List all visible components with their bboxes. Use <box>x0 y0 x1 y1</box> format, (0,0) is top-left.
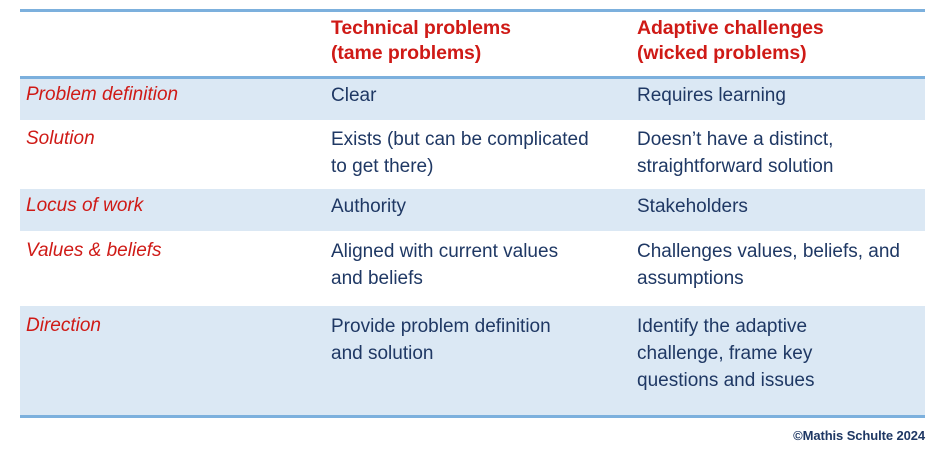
cell-technical-values-and-beliefs: Aligned with current values and beliefs <box>331 238 631 292</box>
cell-adaptive-direction: Identify the adaptive challenge, frame k… <box>637 313 927 394</box>
row-label-problem-definition: Problem definition <box>26 82 326 107</box>
cell-text: Requires learning <box>637 85 786 106</box>
row-label-direction: Direction <box>26 313 326 338</box>
header-label-technical-problems: Technical problems (tame problems) <box>331 17 511 64</box>
copyright-notice: ©Mathis Schulte 2024 <box>793 428 925 443</box>
cell-technical-locus-of-work: Authority <box>331 193 631 220</box>
row-label-solution: Solution <box>26 126 326 151</box>
row-label-locus-of-work: Locus of work <box>26 193 326 218</box>
cell-technical-direction: Provide problem definition and solution <box>331 313 631 367</box>
row-label-values-and-beliefs: Values & beliefs <box>26 238 326 263</box>
cell-adaptive-solution: Doesn’t have a distinct, straightforward… <box>637 126 927 180</box>
cell-text: Doesn’t have a distinct, straightforward… <box>637 129 833 177</box>
cell-adaptive-locus-of-work: Stakeholders <box>637 193 927 220</box>
cell-text: Authority <box>331 196 406 217</box>
header-cell-technical-problems: Technical problems (tame problems) <box>331 16 631 66</box>
cell-technical-problem-definition: Clear <box>331 82 631 109</box>
row-label-text: Values & beliefs <box>26 240 162 261</box>
cell-text: Provide problem definition and solution <box>331 316 551 364</box>
table-header-row: Technical problems (tame problems) Adapt… <box>0 16 939 74</box>
row-label-text: Problem definition <box>26 84 178 105</box>
row-label-text: Direction <box>26 315 101 336</box>
cell-text: Aligned with current values and beliefs <box>331 241 558 289</box>
cell-text: Stakeholders <box>637 196 748 217</box>
cell-adaptive-problem-definition: Requires learning <box>637 82 927 109</box>
cell-text: Exists (but can be complicated to get th… <box>331 129 589 177</box>
cell-adaptive-values-and-beliefs: Challenges values, beliefs, and assumpti… <box>637 238 927 292</box>
row-label-text: Locus of work <box>26 195 143 216</box>
table-bottom-rule <box>20 415 925 418</box>
cell-text: Clear <box>331 85 376 106</box>
table-top-rule <box>20 9 925 12</box>
row-label-text: Solution <box>26 128 95 149</box>
slide-canvas: Technical problems (tame problems) Adapt… <box>0 0 939 454</box>
header-cell-adaptive-challenges: Adaptive challenges (wicked problems) <box>637 16 927 66</box>
header-label-adaptive-challenges: Adaptive challenges (wicked problems) <box>637 17 824 64</box>
table-header-rule <box>20 76 925 79</box>
cell-text: Challenges values, beliefs, and assumpti… <box>637 241 900 289</box>
cell-text: Identify the adaptive challenge, frame k… <box>637 316 814 391</box>
cell-technical-solution: Exists (but can be complicated to get th… <box>331 126 631 180</box>
